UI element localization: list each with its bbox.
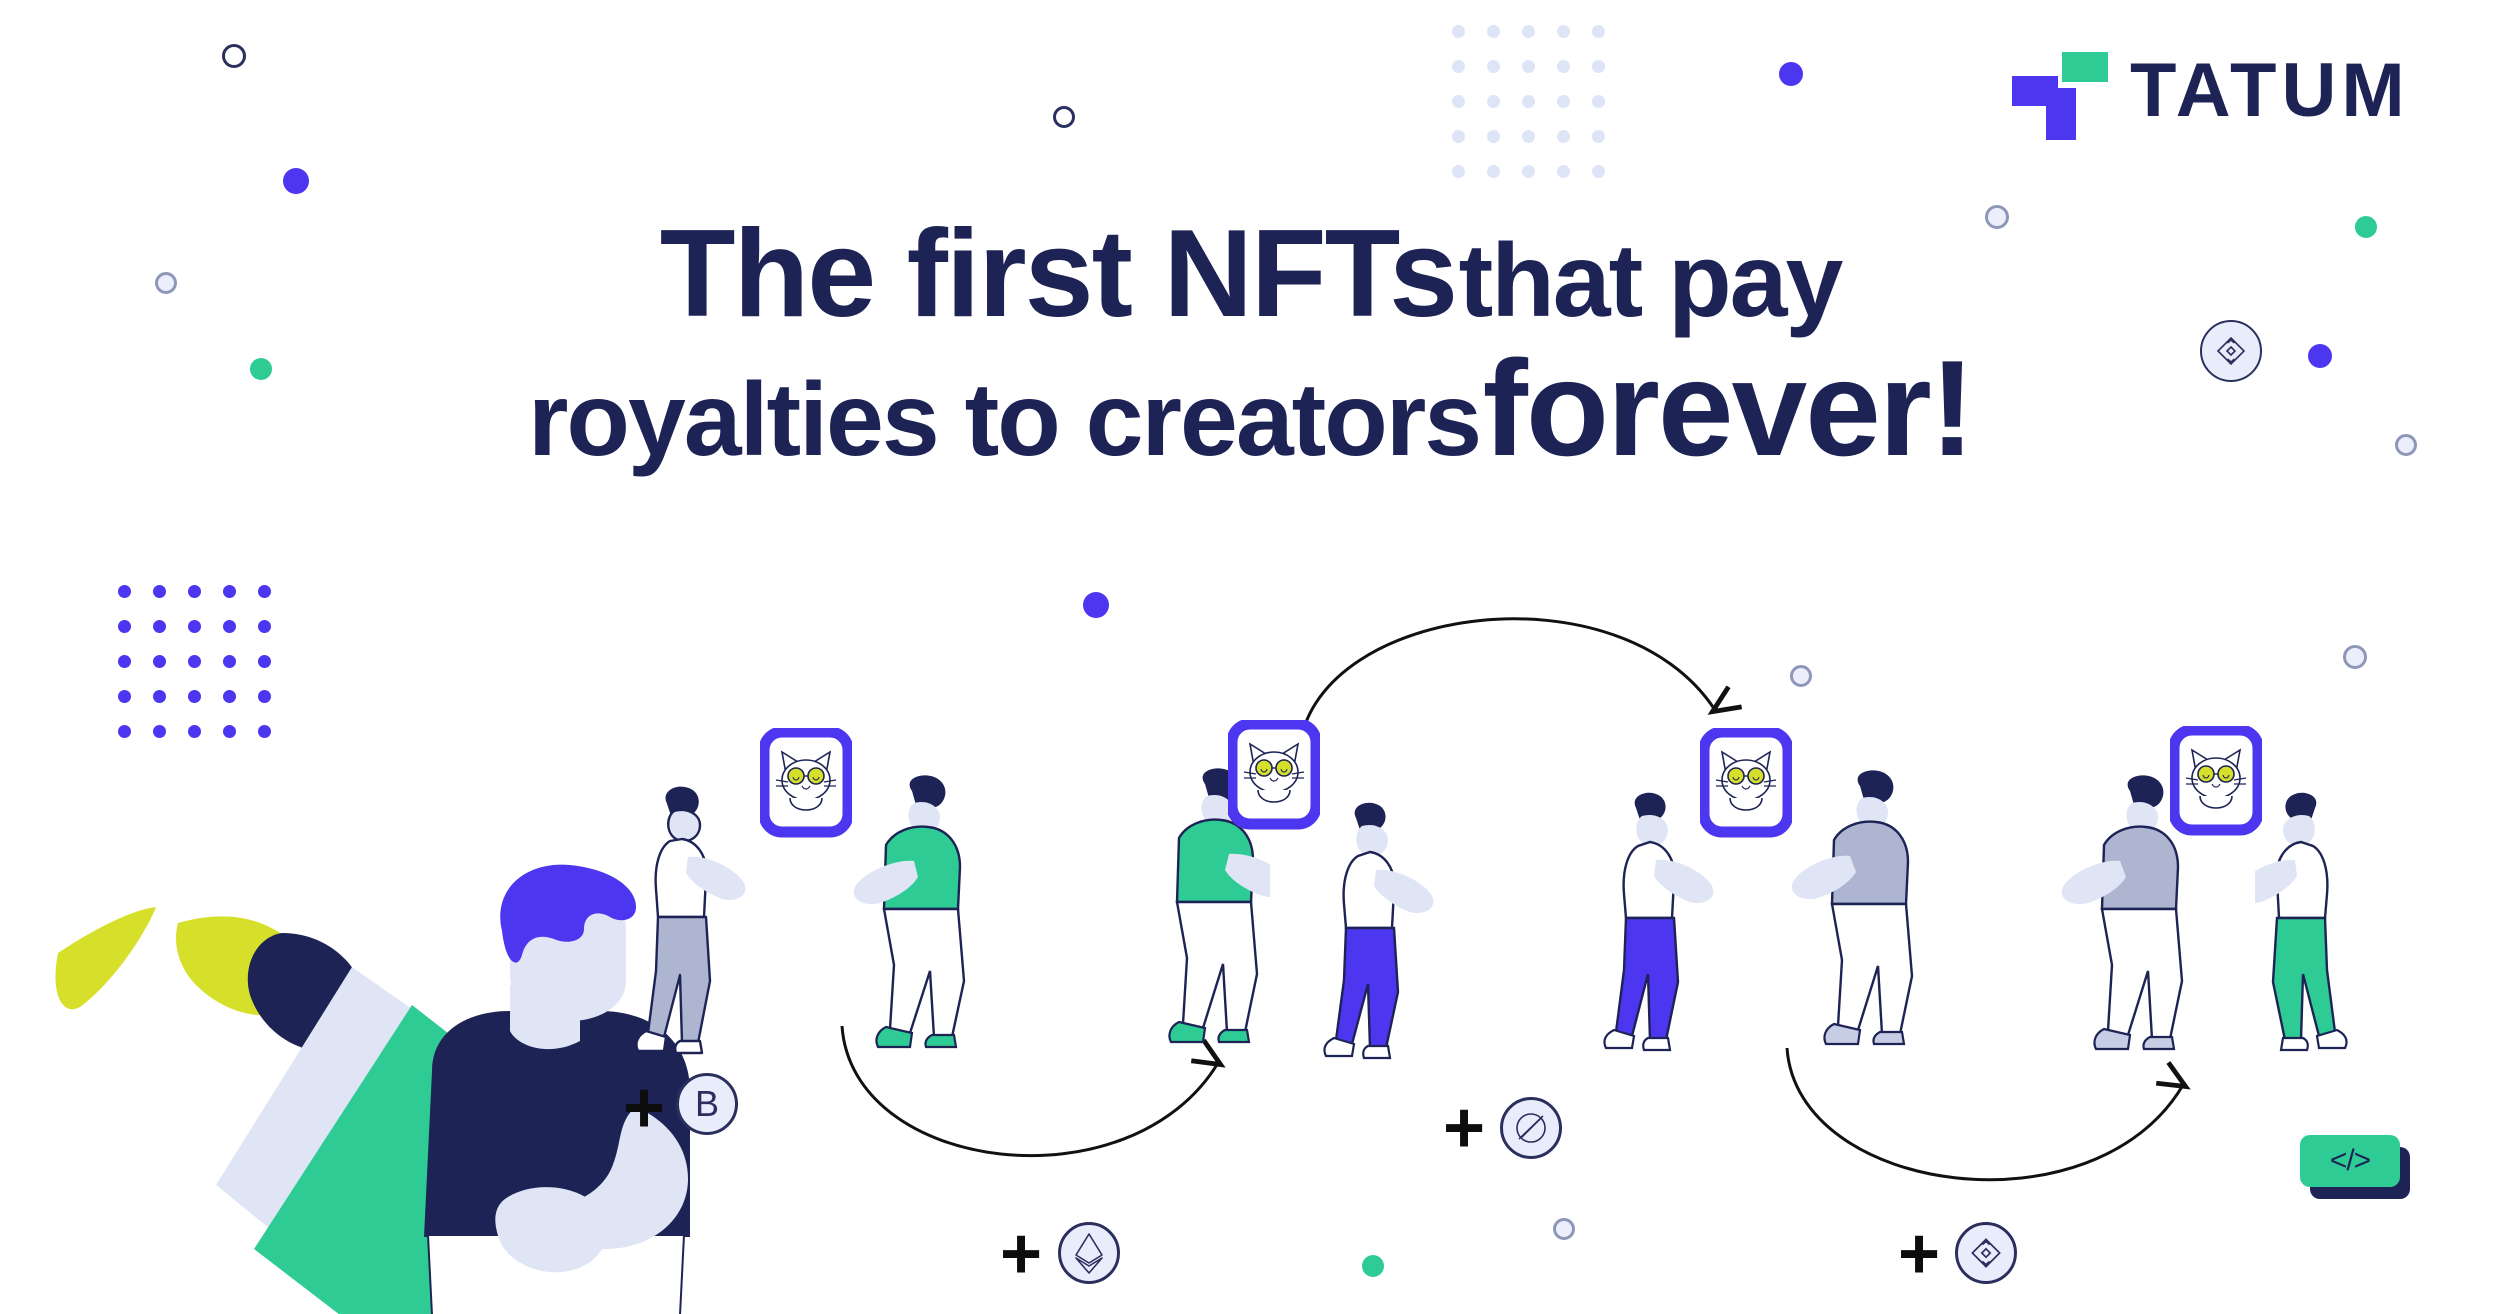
headline-line2-strong: forever! (1483, 332, 1973, 484)
decor-ring (1053, 106, 1075, 128)
decor-ring (1790, 665, 1812, 687)
decor-dot-purple (1779, 62, 1803, 86)
ethereum-glyph (1072, 1231, 1106, 1275)
ethereum-badge[interactable] (1058, 1222, 1120, 1284)
artist-with-paintbrush (40, 845, 920, 1314)
plus-sign: + (623, 1072, 665, 1144)
plus-sign: + (1000, 1218, 1042, 1290)
decor-dot-green (1362, 1255, 1384, 1277)
slash-circle-glyph (1510, 1107, 1552, 1149)
tatum-wordmark: TATUM (2130, 53, 2410, 129)
cat-nft-card[interactable] (760, 728, 852, 838)
decor-ring (2343, 645, 2367, 669)
walker-figure (1790, 770, 1925, 1055)
code-badge-face: </> (2300, 1135, 2400, 1187)
paint-splash (55, 907, 156, 1009)
walker-figure (630, 785, 760, 1055)
decor-dot-grid-purple (118, 585, 271, 738)
page-title: The first NFTs that pay royalties to cre… (0, 214, 2501, 475)
arrow-arc-top (1290, 545, 1760, 755)
arrow-arc-bottom-right (1775, 1030, 2215, 1255)
code-badge[interactable]: </> (2300, 1135, 2400, 1187)
nft-royalties-banner: TATUM The first NFTs that pay royalties … (0, 0, 2501, 1314)
bnb-glyph (1965, 1232, 2007, 1274)
decor-ring (1553, 1218, 1575, 1240)
decor-dot-purple (1083, 592, 1109, 618)
walker-figure (1318, 800, 1448, 1060)
decor-dot-grid-light (1452, 25, 1605, 178)
plus-sign: + (1898, 1218, 1940, 1290)
cat-nft-card[interactable] (1700, 728, 1792, 838)
headline-line2-light: royalties to creators (528, 362, 1480, 478)
tatum-logo-mark-icon (2012, 52, 2100, 130)
plus-sign: + (1443, 1092, 1485, 1164)
binance-badge[interactable] (1955, 1222, 2017, 1284)
walker-figure (2255, 790, 2385, 1052)
headline-line1-strong: The first NFTs (660, 205, 1456, 343)
celo-badge[interactable] (1500, 1097, 1562, 1159)
tatum-logo[interactable]: TATUM (2012, 52, 2410, 130)
walker-figure (840, 775, 975, 1055)
bitcoin-badge[interactable]: B (676, 1073, 738, 1135)
code-badge-label: </> (2330, 1144, 2370, 1178)
decor-ring (222, 44, 246, 68)
cat-nft-card[interactable] (1228, 720, 1320, 830)
bitcoin-symbol: B (695, 1086, 719, 1122)
cat-nft-card[interactable] (2170, 726, 2262, 836)
headline-line1-light: that pay (1459, 223, 1842, 339)
decor-dot-purple (283, 168, 309, 194)
